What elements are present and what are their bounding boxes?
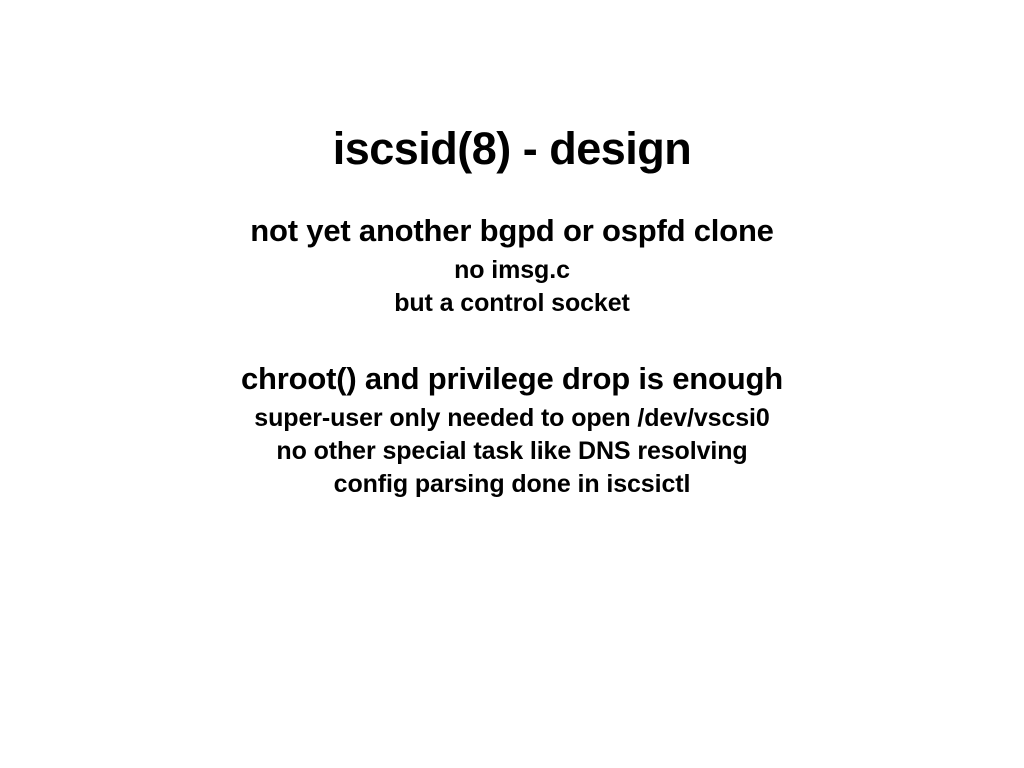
block-1-line-2: but a control socket xyxy=(0,287,1024,320)
block-2-line-2: no other special task like DNS resolving xyxy=(0,435,1024,468)
block-2-line-1: super-user only needed to open /dev/vscs… xyxy=(0,402,1024,435)
content-block-2: chroot() and privilege drop is enough su… xyxy=(0,360,1024,502)
content-block-1: not yet another bgpd or ospfd clone no i… xyxy=(0,212,1024,320)
block-1-heading: not yet another bgpd or ospfd clone xyxy=(0,212,1024,251)
block-2-line-3: config parsing done in iscsictl xyxy=(0,468,1024,501)
presentation-slide: iscsid(8) - design not yet another bgpd … xyxy=(0,0,1024,768)
block-2-heading: chroot() and privilege drop is enough xyxy=(0,360,1024,399)
block-1-line-1: no imsg.c xyxy=(0,254,1024,287)
slide-title: iscsid(8) - design xyxy=(0,124,1024,174)
